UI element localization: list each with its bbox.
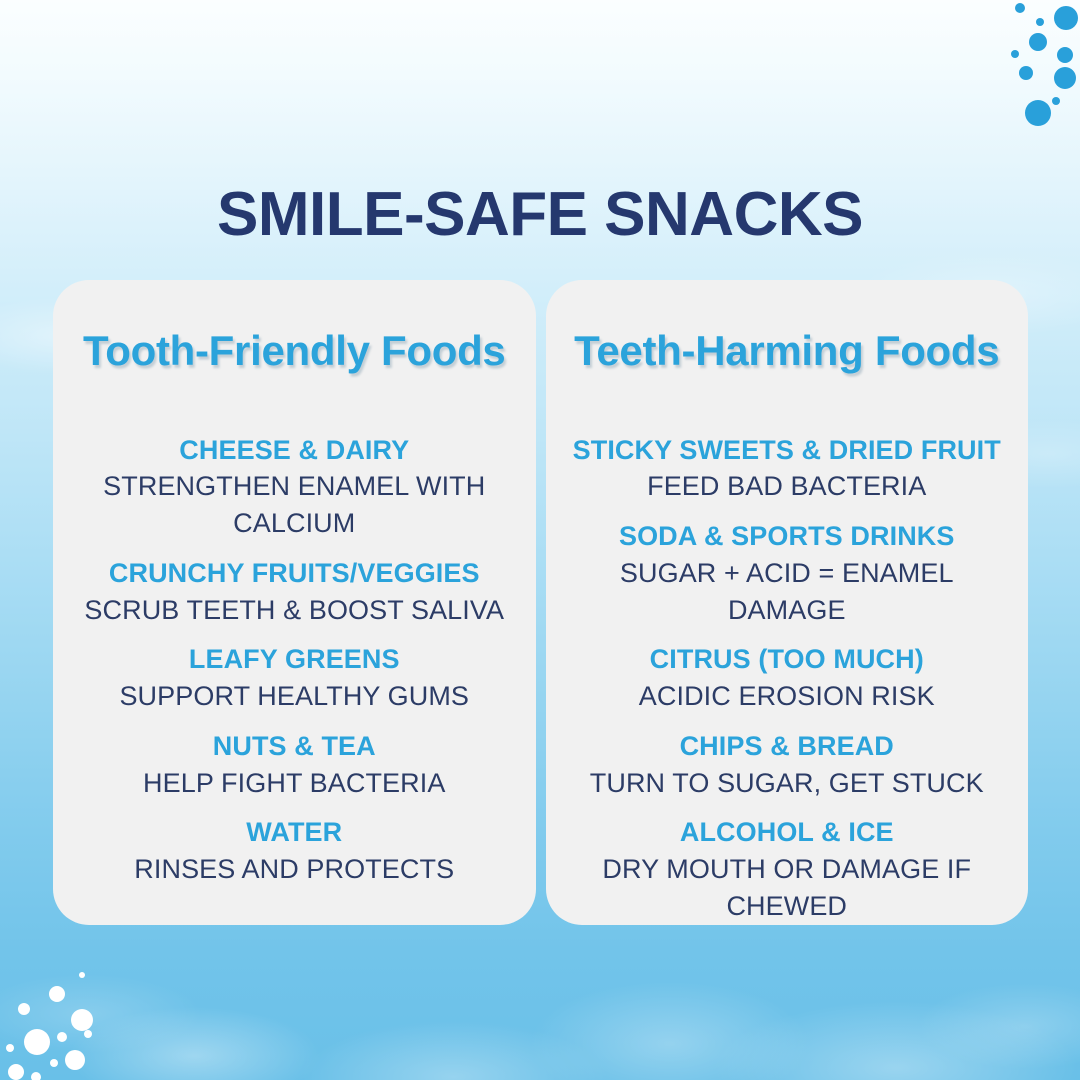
decorative-dot <box>1054 67 1076 89</box>
entry-name: CHEESE & DAIRY <box>69 432 520 469</box>
decorative-dot <box>71 1009 93 1031</box>
decorative-dot <box>1015 3 1025 13</box>
entry-description: SCRUB TEETH & BOOST SALIVA <box>69 592 520 629</box>
decorative-dot <box>1011 50 1019 58</box>
decorative-dot <box>65 1050 85 1070</box>
list-item: CRUNCHY FRUITS/VEGGIES SCRUB TEETH & BOO… <box>69 555 520 628</box>
card-tooth-friendly: Tooth-Friendly Foods CHEESE & DAIRY STRE… <box>53 280 536 925</box>
entry-name: WATER <box>69 814 520 851</box>
decorative-dot <box>1025 100 1051 126</box>
decorative-dot <box>1052 97 1060 105</box>
card-tooth-friendly-heading: Tooth-Friendly Foods <box>69 324 520 378</box>
entry-name: STICKY SWEETS & DRIED FRUIT <box>562 432 1013 469</box>
decorative-dot <box>84 1030 92 1038</box>
entry-name: ALCOHOL & ICE <box>562 814 1013 851</box>
entry-description: HELP FIGHT BACTERIA <box>69 765 520 802</box>
page-title: SMILE-SAFE SNACKS <box>0 182 1080 247</box>
decorative-dot <box>31 1072 41 1080</box>
list-item: CITRUS (TOO MUCH) ACIDIC EROSION RISK <box>562 641 1013 714</box>
list-item: STICKY SWEETS & DRIED FRUIT FEED BAD BAC… <box>562 432 1013 505</box>
entry-name: LEAFY GREENS <box>69 641 520 678</box>
decorative-dot <box>18 1003 30 1015</box>
entry-description: STRENGTHEN ENAMEL WITH CALCIUM <box>69 468 520 541</box>
list-item: LEAFY GREENS SUPPORT HEALTHY GUMS <box>69 641 520 714</box>
decorative-dot <box>50 1059 58 1067</box>
comparison-cards: Tooth-Friendly Foods CHEESE & DAIRY STRE… <box>53 280 1028 925</box>
card-teeth-harming-list: STICKY SWEETS & DRIED FRUIT FEED BAD BAC… <box>562 432 1013 925</box>
poster-canvas: SMILE-SAFE SNACKS Tooth-Friendly Foods C… <box>0 0 1080 1080</box>
decorative-dot <box>1019 66 1033 80</box>
list-item: ALCOHOL & ICE DRY MOUTH OR DAMAGE IF CHE… <box>562 814 1013 924</box>
decorative-dot <box>49 986 65 1002</box>
entry-name: CHIPS & BREAD <box>562 728 1013 765</box>
decorative-dot <box>1036 18 1044 26</box>
decorative-dot <box>57 1032 67 1042</box>
entry-name: CRUNCHY FRUITS/VEGGIES <box>69 555 520 592</box>
entry-description: FEED BAD BACTERIA <box>562 468 1013 505</box>
entry-description: SUPPORT HEALTHY GUMS <box>69 678 520 715</box>
entry-name: NUTS & TEA <box>69 728 520 765</box>
decorative-dot <box>24 1029 50 1055</box>
list-item: CHIPS & BREAD TURN TO SUGAR, GET STUCK <box>562 728 1013 801</box>
entry-description: ACIDIC EROSION RISK <box>562 678 1013 715</box>
decorative-dot <box>1029 33 1047 51</box>
list-item: SODA & SPORTS DRINKS SUGAR + ACID = ENAM… <box>562 518 1013 628</box>
decorative-dot <box>79 972 85 978</box>
entry-name: SODA & SPORTS DRINKS <box>562 518 1013 555</box>
card-tooth-friendly-list: CHEESE & DAIRY STRENGTHEN ENAMEL WITH CA… <box>69 432 520 888</box>
card-teeth-harming: Teeth-Harming Foods STICKY SWEETS & DRIE… <box>546 280 1029 925</box>
decorative-dot <box>8 1064 24 1080</box>
decorative-dot <box>1057 47 1073 63</box>
list-item: NUTS & TEA HELP FIGHT BACTERIA <box>69 728 520 801</box>
entry-description: RINSES AND PROTECTS <box>69 851 520 888</box>
card-teeth-harming-heading: Teeth-Harming Foods <box>562 324 1013 378</box>
entry-description: DRY MOUTH OR DAMAGE IF CHEWED <box>562 851 1013 924</box>
decorative-dot <box>6 1044 14 1052</box>
entry-description: SUGAR + ACID = ENAMEL DAMAGE <box>562 555 1013 628</box>
list-item: WATER RINSES AND PROTECTS <box>69 814 520 887</box>
entry-name: CITRUS (TOO MUCH) <box>562 641 1013 678</box>
list-item: CHEESE & DAIRY STRENGTHEN ENAMEL WITH CA… <box>69 432 520 542</box>
decorative-dot <box>1054 6 1078 30</box>
entry-description: TURN TO SUGAR, GET STUCK <box>562 765 1013 802</box>
